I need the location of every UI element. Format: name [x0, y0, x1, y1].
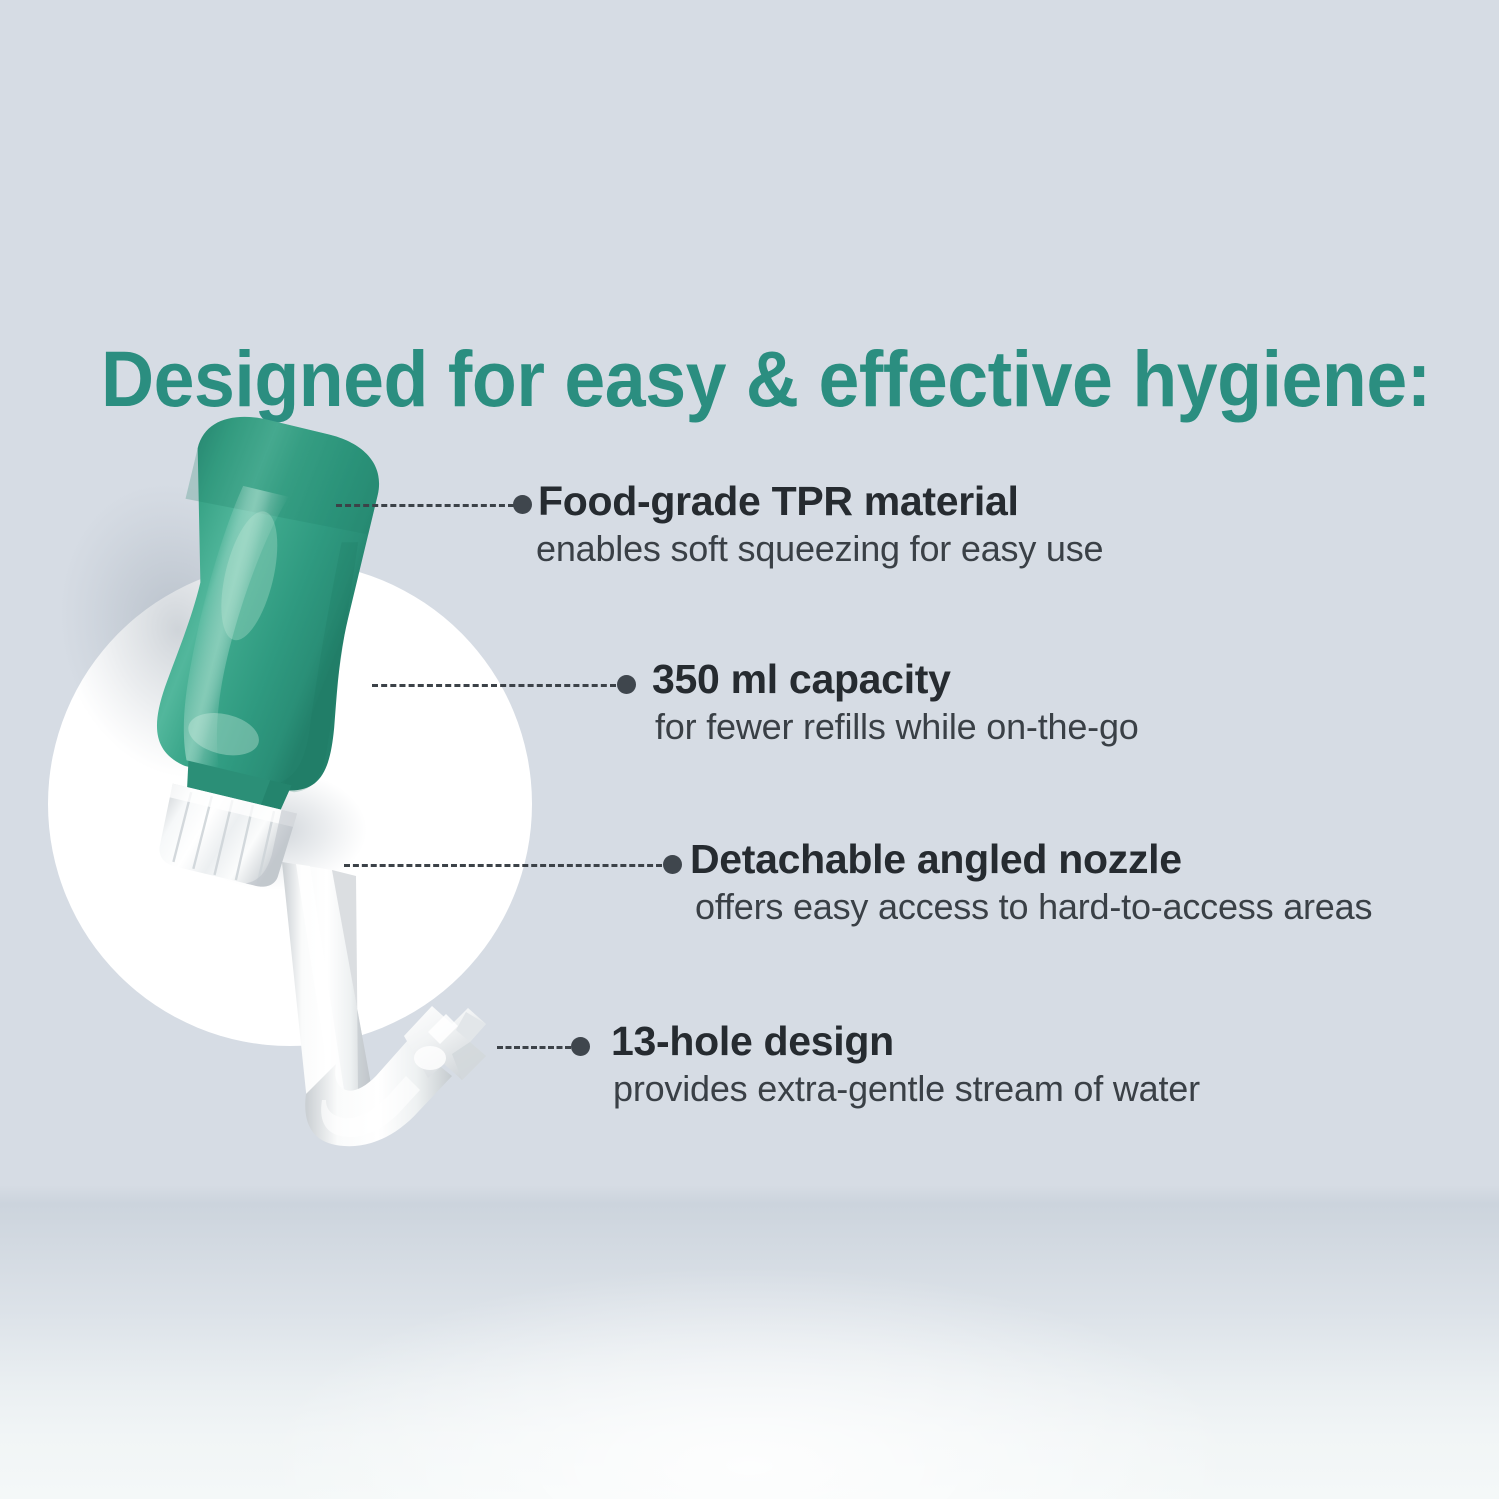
leader-line-4: [497, 1046, 571, 1049]
leader-line-1: [336, 504, 514, 507]
feature-heading: Detachable angled nozzle: [690, 837, 1372, 881]
feature-callout-4: 13-hole design provides extra-gentle str…: [611, 1019, 1200, 1110]
feature-heading: 13-hole design: [611, 1019, 1200, 1063]
leader-dot-4: [571, 1037, 590, 1056]
infographic-canvas: Designed for easy & effective hygiene:: [0, 0, 1499, 1499]
feature-subtext: for fewer refills while on-the-go: [655, 707, 1139, 747]
leader-line-3: [344, 864, 662, 867]
feature-callout-3: Detachable angled nozzle offers easy acc…: [690, 837, 1372, 928]
leader-dot-2: [617, 675, 636, 694]
background-floor-glow: [270, 1270, 1229, 1499]
feature-callout-1: Food-grade TPR material enables soft squ…: [538, 479, 1103, 570]
feature-subtext: offers easy access to hard-to-access are…: [695, 887, 1372, 927]
feature-subtext: enables soft squeezing for easy use: [536, 529, 1103, 569]
page-title: Designed for easy & effective hygiene:: [101, 339, 1431, 418]
leader-line-2: [372, 684, 616, 687]
leader-dot-1: [513, 495, 532, 514]
feature-heading: 350 ml capacity: [652, 657, 1139, 701]
feature-callout-2: 350 ml capacity for fewer refills while …: [652, 657, 1139, 748]
nozzle-tip: [404, 1006, 486, 1080]
product-backdrop-circle: [48, 562, 532, 1046]
nozzle-elbow: [305, 1040, 452, 1146]
feature-heading: Food-grade TPR material: [538, 479, 1103, 523]
leader-dot-3: [663, 855, 682, 874]
feature-subtext: provides extra-gentle stream of water: [613, 1069, 1200, 1109]
